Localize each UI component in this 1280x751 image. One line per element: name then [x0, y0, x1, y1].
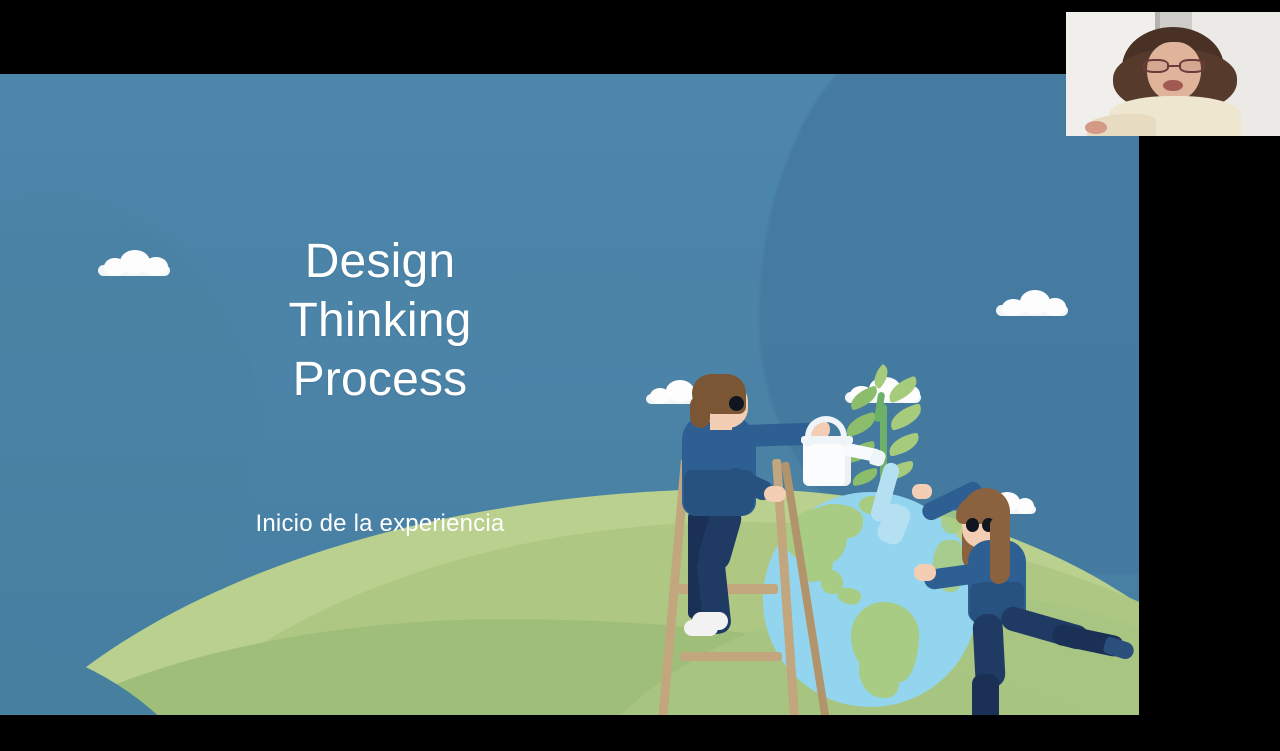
ladder-step [680, 652, 782, 661]
slide-title-line-2: Thinking [170, 291, 590, 350]
glasses-icon [1143, 59, 1205, 73]
watering-can [795, 426, 877, 486]
screen-root: Design Thinking Process Inicio de la exp… [0, 0, 1280, 751]
presenter-video-thumbnail[interactable] [1066, 12, 1280, 136]
presenter-hand [1085, 121, 1106, 133]
cloud-icon [98, 250, 170, 276]
slide-title: Design Thinking Process [170, 232, 590, 409]
cloud-icon [996, 290, 1068, 316]
slide-subtitle: Inicio de la experiencia [170, 510, 590, 538]
person-pushing-globe [928, 478, 1118, 715]
slide-title-line-3: Process [170, 350, 590, 409]
slide-title-line-1: Design [170, 232, 590, 291]
presenter-mouth [1163, 80, 1182, 91]
presentation-slide[interactable]: Design Thinking Process Inicio de la exp… [0, 74, 1139, 715]
person-on-ladder [660, 374, 830, 644]
